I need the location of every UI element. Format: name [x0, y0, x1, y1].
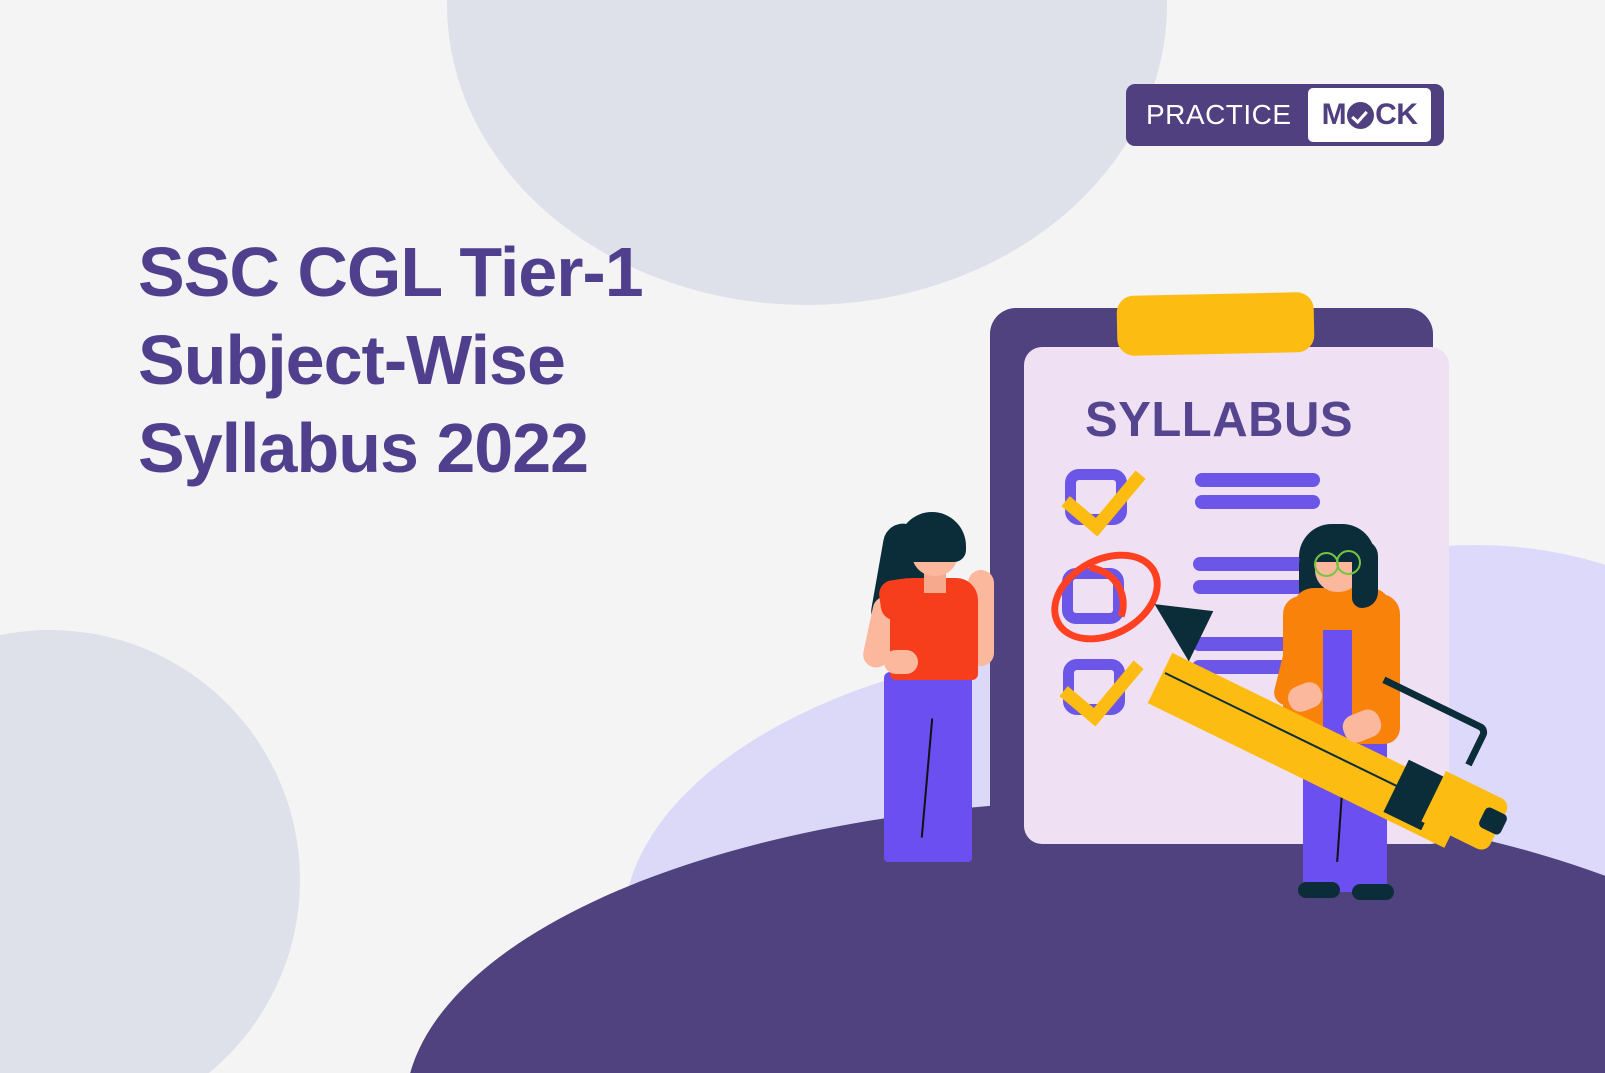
text-line-1b	[1195, 495, 1320, 509]
person-left-hair	[898, 512, 966, 562]
clipboard-clip	[1116, 292, 1314, 356]
person-left-hand	[884, 650, 918, 674]
background-circle-bottom-left	[0, 630, 300, 1073]
logo-mock-text: M CK	[1322, 98, 1418, 132]
page-title-line-3: Syllabus 2022	[138, 404, 643, 492]
glasses-lens-right-icon	[1336, 550, 1361, 575]
person-right-shoe-left	[1298, 882, 1340, 898]
background-hill-right	[1390, 955, 1605, 1073]
check-circle-icon	[1347, 102, 1374, 129]
brand-logo[interactable]: PRACTICE M CK	[1126, 84, 1444, 146]
text-line-1a	[1195, 473, 1320, 487]
logo-mock-panel: M CK	[1308, 88, 1432, 142]
person-right-hair-side	[1352, 540, 1378, 608]
syllabus-heading: SYLLABUS	[1085, 392, 1353, 448]
person-right-shoe-right	[1352, 884, 1394, 900]
promo-banner: PRACTICE M CK SSC CGL Tier-1 Subject-Wis…	[0, 0, 1605, 1073]
logo-mock-m: M	[1322, 98, 1347, 132]
page-title: SSC CGL Tier-1 Subject-Wise Syllabus 202…	[138, 228, 643, 492]
page-title-line-2: Subject-Wise	[138, 316, 643, 404]
page-title-line-1: SSC CGL Tier-1	[138, 228, 643, 316]
logo-practice-text: PRACTICE	[1130, 99, 1308, 131]
logo-mock-ck: CK	[1375, 98, 1417, 132]
